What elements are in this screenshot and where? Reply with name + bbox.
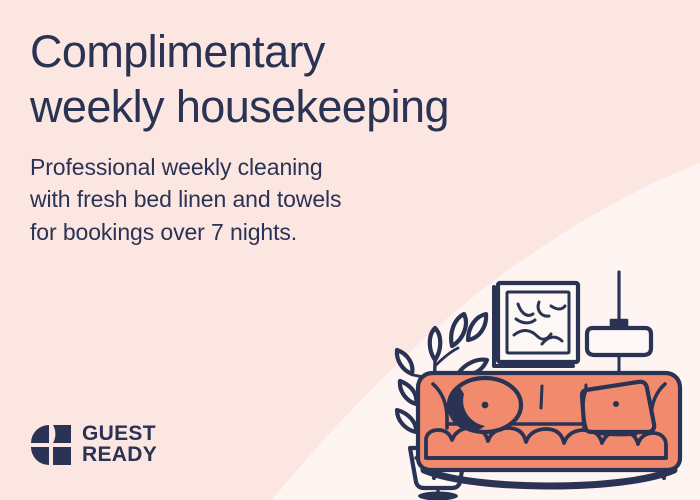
logo-word-line-1: GUEST xyxy=(82,424,157,445)
promo-banner: Complimentary weekly housekeeping Profes… xyxy=(0,0,700,500)
logo-word-line-2: READY xyxy=(82,445,157,466)
sofa-icon xyxy=(418,373,680,486)
framed-picture-icon xyxy=(494,283,578,366)
living-room-illustration xyxy=(390,262,700,500)
pendant-lamp-icon xyxy=(587,272,651,374)
square-cushion-icon xyxy=(582,382,654,435)
page-title: Complimentary weekly housekeeping xyxy=(30,24,590,135)
copy-block: Complimentary weekly housekeeping Profes… xyxy=(30,24,590,249)
guestready-logo-mark-icon xyxy=(31,425,71,465)
guestready-wordmark: GUEST READY xyxy=(82,424,157,466)
page-subtitle: Professional weekly cleaning with fresh … xyxy=(30,151,590,249)
guestready-logo[interactable]: GUEST READY xyxy=(31,424,157,466)
round-cushion-icon xyxy=(448,378,521,432)
